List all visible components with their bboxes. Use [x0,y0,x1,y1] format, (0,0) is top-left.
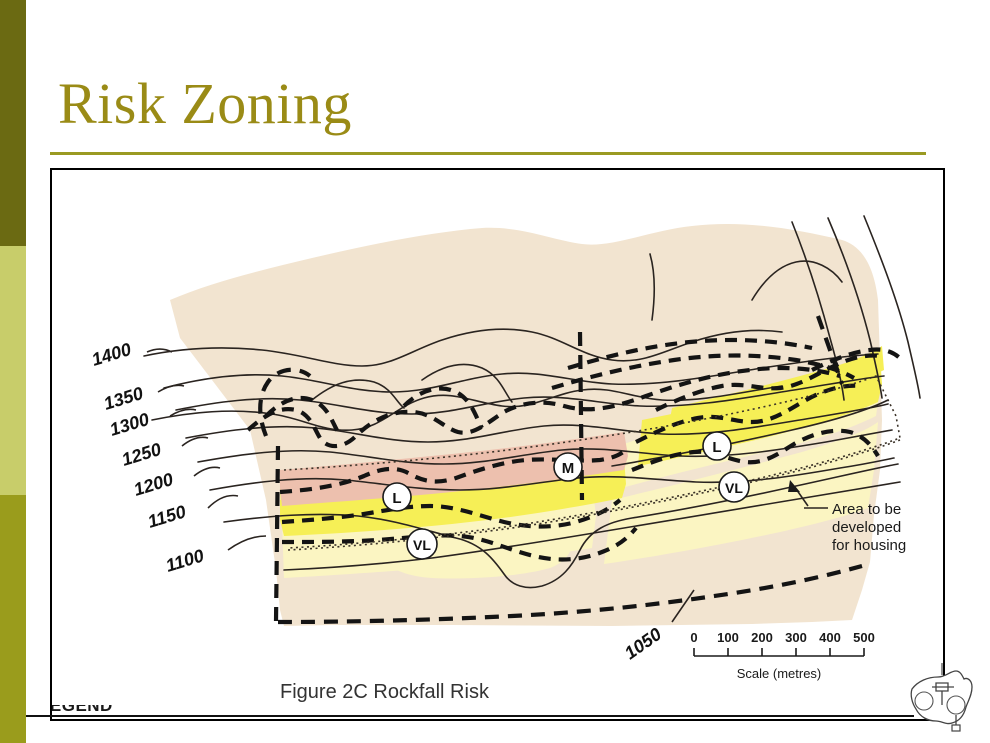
contour-label-1100-text: 1100 [163,545,206,575]
contour-label-1100: 1100 [163,536,266,576]
scale-tick-400: 400 [819,630,841,645]
logo-base-icon [952,725,960,731]
risk-marker-vl-left-label: VL [413,537,431,553]
scale-bar-label: Scale (metres) [737,666,822,681]
sidebar-band-top [0,0,26,246]
rockfall-risk-map: M L L VL VL 1400 [52,170,943,719]
contour-label-1300: 1300 [107,409,196,440]
contour-label-1050-text: 1050 [621,624,665,663]
scale-bar-axis [694,648,864,656]
title-underline-rule [50,152,926,155]
contour-label-1250: 1250 [119,437,208,470]
risk-marker-vl-right-label: VL [725,480,743,496]
contour-label-1400: 1400 [89,339,172,370]
risk-marker-m-label: M [562,460,575,477]
housing-annotation-line2: developed [832,519,901,536]
sidebar-band-middle [0,246,26,495]
contour-label-1400-text: 1400 [89,339,133,370]
figure-caption: Figure 2C Rockfall Risk [280,681,490,703]
sidebar-decorative-strip [0,0,26,743]
scale-tick-0: 0 [690,630,697,645]
risk-marker-l-right: L [703,432,731,460]
risk-marker-l-left-label: L [392,490,401,507]
housing-annotation-line1: Area to be [832,501,901,518]
page-title: Risk Zoning [58,72,352,136]
contour-label-1350-text: 1350 [101,383,145,414]
bottom-divider-rule [26,715,914,717]
risk-marker-l-left: L [383,483,411,511]
scale-tick-300: 300 [785,630,807,645]
risk-marker-vl-right: VL [719,472,749,502]
contour-label-1150-text: 1150 [145,501,188,531]
contour-label-1200: 1200 [131,467,220,500]
risk-marker-m: M [554,453,582,481]
contour-label-1150: 1150 [145,496,238,532]
risk-marker-vl-left: VL [407,529,437,559]
australia-logo [898,663,986,739]
risk-marker-l-right-label: L [712,439,721,456]
contour-label-1200-text: 1200 [131,469,175,500]
figure-frame: M L L VL VL 1400 [50,168,945,721]
scale-tick-200: 200 [751,630,773,645]
contour-label-1300-text: 1300 [107,409,151,440]
scale-bar: 0 100 200 300 400 500 Scale (metres) [690,630,874,681]
scale-tick-100: 100 [717,630,739,645]
scale-tick-500: 500 [853,630,875,645]
housing-annotation-line3: for housing [832,537,906,554]
sidebar-band-bottom [0,495,26,743]
contour-label-1250-text: 1250 [119,439,163,470]
